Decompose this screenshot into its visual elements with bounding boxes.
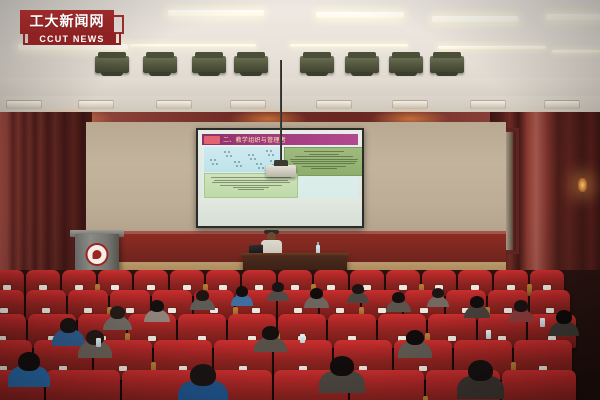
audience-member-head xyxy=(406,330,424,345)
strip-light xyxy=(432,16,518,22)
slide-text-line xyxy=(290,159,358,160)
ccut-news-logo: 工大新闻网 CCUT NEWS xyxy=(20,10,124,46)
slide-text-line xyxy=(211,177,290,178)
slide-text-line xyxy=(304,151,345,152)
strip-light xyxy=(290,44,408,47)
audience-member-head xyxy=(310,288,323,299)
slide-text-line xyxy=(220,185,282,186)
recessed-downlight xyxy=(230,100,266,109)
slide-header-tag xyxy=(204,136,220,144)
slide-title: 二、教学组织与管理者 xyxy=(223,135,286,144)
auditorium-seat xyxy=(46,370,120,400)
audience-member-head xyxy=(86,330,104,345)
slide-text-line xyxy=(293,163,355,164)
slide-text-line xyxy=(214,180,288,181)
stage-spotlight xyxy=(300,56,334,73)
stage-spotlight xyxy=(192,56,226,73)
recessed-downlight xyxy=(316,100,352,109)
stage-spotlight xyxy=(430,56,464,73)
slide-cluster-icon xyxy=(224,151,233,158)
water-bottle-icon xyxy=(96,338,101,347)
row-front xyxy=(0,370,600,400)
strip-light xyxy=(552,50,600,53)
audience-member-head xyxy=(432,288,444,298)
auditorium-seat xyxy=(502,370,576,400)
logo-chinese-text: 工大新闻网 xyxy=(30,15,105,29)
slide-text-line xyxy=(295,156,353,157)
water-bottle-icon xyxy=(540,318,545,327)
slide-text-line xyxy=(238,189,264,190)
wall-sconce-light xyxy=(578,178,587,192)
audience-member-head xyxy=(392,292,405,303)
seated-audience xyxy=(0,270,600,400)
ceiling-projector xyxy=(266,165,296,177)
audience-member-head xyxy=(190,364,216,386)
slide-cluster-icon xyxy=(234,161,243,168)
recessed-downlight xyxy=(156,100,192,109)
strip-light xyxy=(168,10,264,16)
audience-member-head xyxy=(514,300,528,312)
stage-spotlight xyxy=(143,56,177,73)
stage-spotlight xyxy=(389,56,423,73)
slide-text-line xyxy=(302,166,346,167)
stage-spotlight xyxy=(95,56,129,73)
slide-cluster-icon xyxy=(256,163,265,170)
audience-member-head xyxy=(196,290,209,301)
slide-cluster-icon xyxy=(266,150,275,157)
audience-member-head xyxy=(262,326,279,340)
stage-spotlight xyxy=(234,56,268,73)
slide-text-line xyxy=(212,182,289,183)
water-bottle-icon xyxy=(300,334,305,343)
stage-spotlight xyxy=(345,56,379,73)
audience-member-head xyxy=(470,296,484,308)
lecture-hall-photo: 二、教学组织与管理者 xyxy=(0,0,600,400)
audience-member-head xyxy=(468,360,493,381)
strip-light xyxy=(130,44,256,47)
slide-text-line xyxy=(311,168,336,169)
strip-light xyxy=(438,46,546,49)
audience-member-head xyxy=(60,318,77,333)
recessed-downlight xyxy=(544,100,580,109)
audience-member-head xyxy=(556,310,572,324)
audience-member-head xyxy=(110,306,125,319)
slide-text-line xyxy=(309,154,339,155)
screen-lower-blank xyxy=(198,198,362,226)
recessed-downlight xyxy=(6,100,42,109)
slide-cluster-icon xyxy=(210,159,219,166)
audience-member-head xyxy=(236,286,248,297)
slide-text-line xyxy=(291,161,356,162)
audience-member-head xyxy=(150,300,164,312)
audience-member-head xyxy=(352,284,364,294)
recessed-downlight xyxy=(78,100,114,109)
water-bottle-icon xyxy=(486,330,491,339)
university-crest-icon xyxy=(86,243,109,266)
recessed-downlight xyxy=(470,100,506,109)
strip-light xyxy=(546,14,600,20)
logo-tick-right xyxy=(116,33,121,45)
logo-english-text: CCUT NEWS xyxy=(39,34,104,44)
slide-text-line xyxy=(233,187,268,188)
logo-box: 工大新闻网 xyxy=(20,10,114,34)
stage-wainscot-cap xyxy=(86,231,506,234)
logo-band: CCUT NEWS xyxy=(28,33,116,45)
slide-cluster-icon xyxy=(248,154,257,161)
audience-member-head xyxy=(18,352,40,371)
audience-member-head xyxy=(330,356,354,376)
strip-light xyxy=(316,12,404,18)
recessed-downlight xyxy=(392,100,428,109)
audience-member-head xyxy=(272,282,284,292)
projector-drop-pole xyxy=(280,60,282,172)
